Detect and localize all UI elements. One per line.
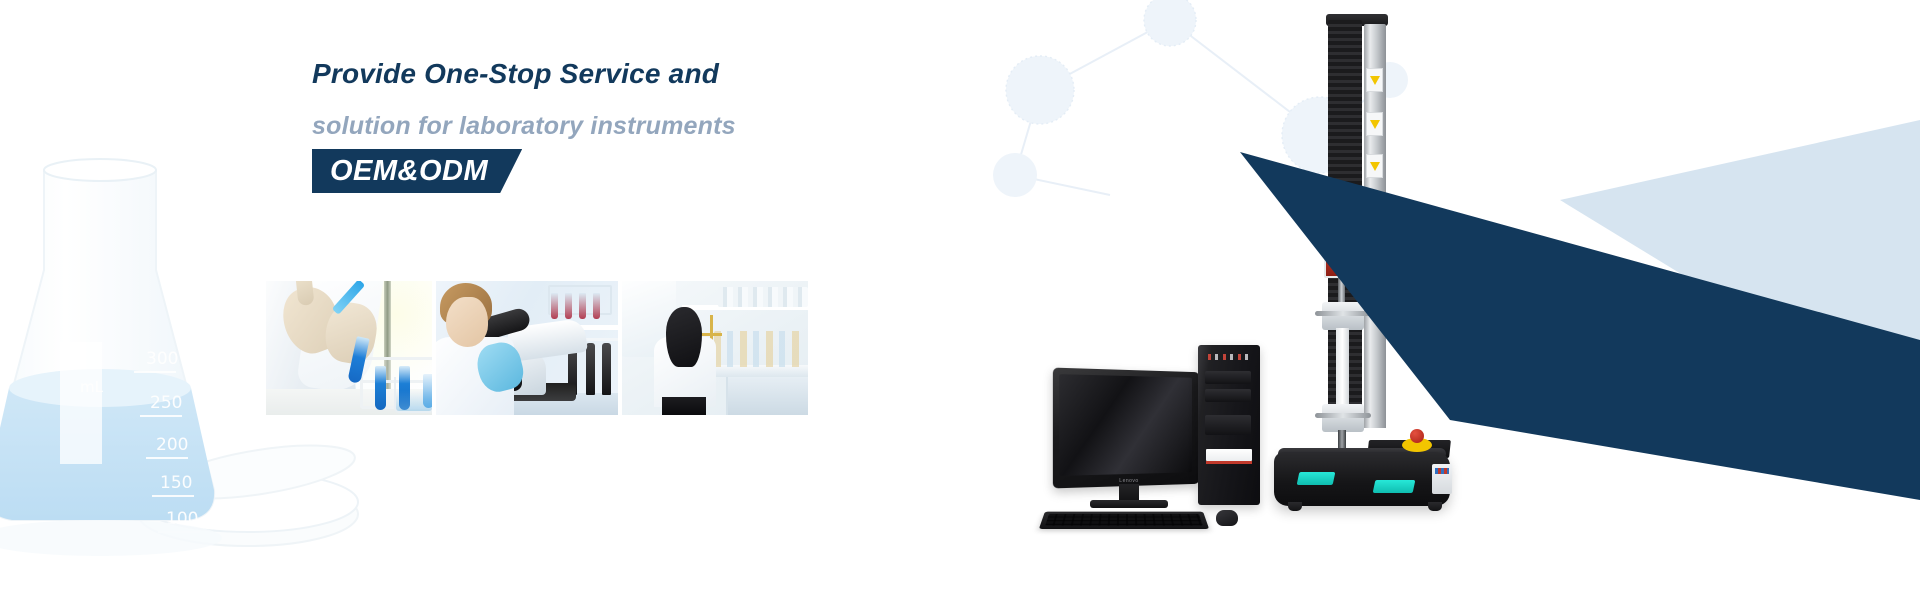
- oem-odm-badge-wrap: OEM&ODM: [312, 149, 522, 193]
- load-cell: [1324, 246, 1358, 278]
- warning-label-icon: [1366, 154, 1383, 178]
- mouse: [1216, 510, 1238, 526]
- svg-text:mL: mL: [80, 378, 104, 396]
- svg-text:200: 200: [156, 435, 188, 455]
- led-strip: [1373, 480, 1416, 493]
- oem-odm-badge: OEM&ODM: [312, 149, 522, 193]
- svg-text:100: 100: [166, 509, 198, 529]
- warning-label-icon: [1366, 112, 1383, 136]
- headline-line-1: Provide One-Stop Service and: [312, 56, 1072, 91]
- universal-tensile-testing-machine: [1282, 20, 1442, 500]
- led-strip: [1297, 472, 1336, 485]
- svg-text:150: 150: [160, 473, 192, 493]
- photo-pipetting-test-tubes: [266, 281, 432, 415]
- warning-label-icon: [1366, 68, 1383, 92]
- svg-text:300: 300: [146, 349, 178, 369]
- desktop-monitor: Lenovo: [1054, 370, 1204, 486]
- lab-photo-strip: [266, 281, 808, 415]
- headline-block: Provide One-Stop Service and solution fo…: [312, 56, 1072, 142]
- photo-lab-technician-bench: [622, 281, 808, 415]
- hero-banner: 300 250 200 150 100 mL Provide One-Stop …: [0, 0, 1920, 597]
- light-blue-triangle-shape: [1560, 120, 1920, 420]
- keyboard: [1039, 512, 1209, 529]
- control-panel: [1432, 464, 1452, 494]
- computer-tower: [1198, 345, 1260, 505]
- headline-line-2: solution for laboratory instruments: [312, 111, 1072, 142]
- photo-microscope-researcher: [436, 281, 618, 415]
- svg-text:250: 250: [150, 393, 182, 413]
- emergency-stop-button[interactable]: [1402, 438, 1432, 452]
- petri-dish: [138, 435, 358, 546]
- product-cluster: Lenovo: [1030, 0, 1430, 597]
